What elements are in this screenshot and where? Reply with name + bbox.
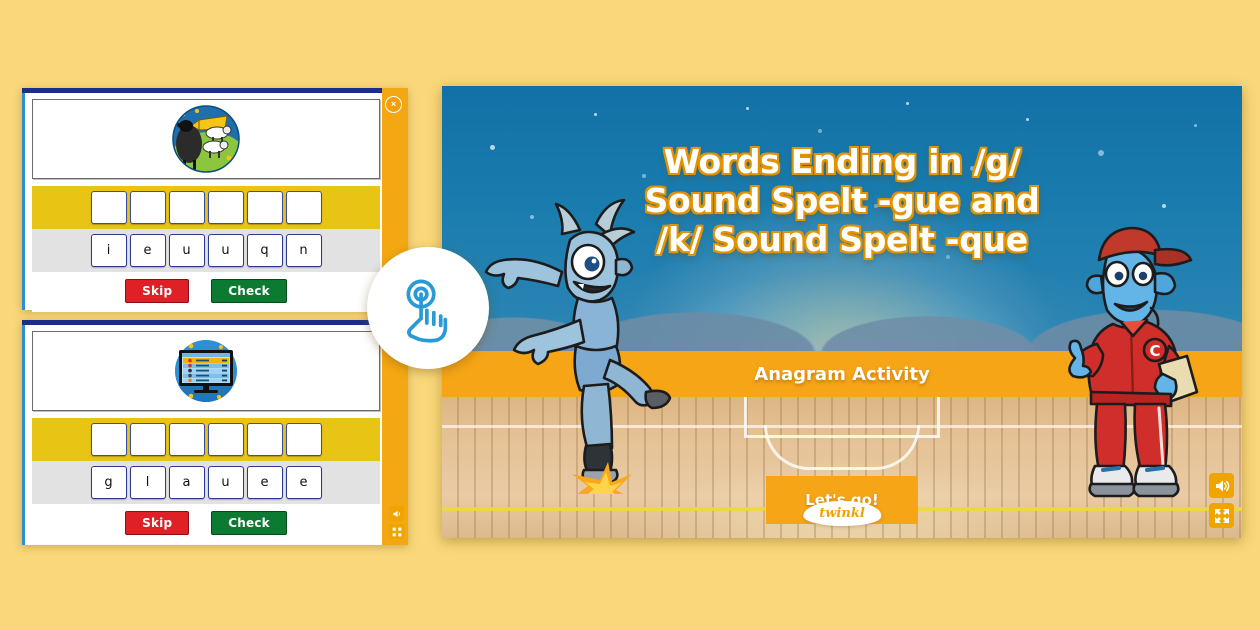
activity-panel-unique[interactable]: ×	[22, 88, 408, 310]
volume-icon[interactable]	[389, 506, 404, 521]
title-line-1: Words Ending in /g/	[442, 142, 1242, 181]
letter-tile[interactable]: q	[247, 234, 283, 267]
panel-left-border	[22, 93, 25, 310]
letter-tile[interactable]: u	[208, 466, 244, 499]
answer-slot[interactable]	[286, 423, 322, 456]
answer-slot[interactable]	[208, 423, 244, 456]
answer-slot[interactable]	[169, 423, 205, 456]
tap-hand-cursor-bubble	[367, 247, 489, 369]
twinkl-logo-text: twinkl	[803, 501, 881, 526]
letter-tile[interactable]: a	[169, 466, 205, 499]
answer-slot[interactable]	[247, 423, 283, 456]
letter-tile[interactable]: g	[91, 466, 127, 499]
letter-tile-row[interactable]: glauee	[32, 461, 380, 504]
fullscreen-icon[interactable]	[389, 524, 404, 539]
letter-tile[interactable]: e	[247, 466, 283, 499]
skating-alien-character	[484, 194, 674, 494]
panel-left-border	[22, 325, 25, 545]
coach-alien-character: C	[1059, 216, 1224, 506]
answer-slot[interactable]	[286, 191, 322, 224]
black-sheep-illustration	[169, 102, 243, 176]
answer-slot[interactable]	[208, 191, 244, 224]
answer-slot-row[interactable]	[32, 418, 380, 461]
tap-hand-icon	[391, 271, 465, 345]
letter-tile[interactable]: u	[208, 234, 244, 267]
letter-tile[interactable]: l	[130, 466, 166, 499]
activity-label: Anagram Activity	[754, 364, 929, 385]
panel-button-row: Skip Check	[32, 272, 380, 312]
screenshot-stage: ×	[0, 0, 1260, 630]
letter-tile[interactable]: u	[169, 234, 205, 267]
panel-tool-group	[389, 506, 404, 539]
letter-tile[interactable]: n	[286, 234, 322, 267]
league-table-picture	[32, 331, 380, 411]
fullscreen-icon[interactable]	[1209, 503, 1234, 528]
main-activity-slide[interactable]: Words Ending in /g/ Sound Spelt -gue and…	[442, 86, 1242, 538]
letter-tile[interactable]: e	[286, 466, 322, 499]
close-icon[interactable]: ×	[385, 96, 402, 113]
panel-button-row: Skip Check	[32, 504, 380, 544]
black-sheep-picture	[32, 99, 380, 179]
skip-button[interactable]: Skip	[125, 279, 189, 303]
letter-tile[interactable]: e	[130, 234, 166, 267]
skip-button[interactable]: Skip	[125, 511, 189, 535]
svg-text:C: C	[1149, 342, 1160, 360]
volume-icon[interactable]	[1209, 473, 1234, 498]
court-arc	[764, 425, 920, 470]
answer-slot[interactable]	[130, 423, 166, 456]
slide-tool-group	[1209, 473, 1234, 528]
answer-slot[interactable]	[130, 191, 166, 224]
check-button[interactable]: Check	[211, 279, 287, 303]
activity-panel-league[interactable]: glauee Skip Check	[22, 320, 408, 545]
answer-slot[interactable]	[169, 191, 205, 224]
letter-tile[interactable]: i	[91, 234, 127, 267]
twinkl-logo: twinkl	[803, 501, 881, 526]
check-button[interactable]: Check	[211, 511, 287, 535]
letter-tile-row[interactable]: ieuuqn	[32, 229, 380, 272]
answer-slot[interactable]	[91, 423, 127, 456]
league-table-illustration	[169, 334, 243, 408]
answer-slot[interactable]	[247, 191, 283, 224]
answer-slot[interactable]	[91, 191, 127, 224]
answer-slot-row[interactable]	[32, 186, 380, 229]
